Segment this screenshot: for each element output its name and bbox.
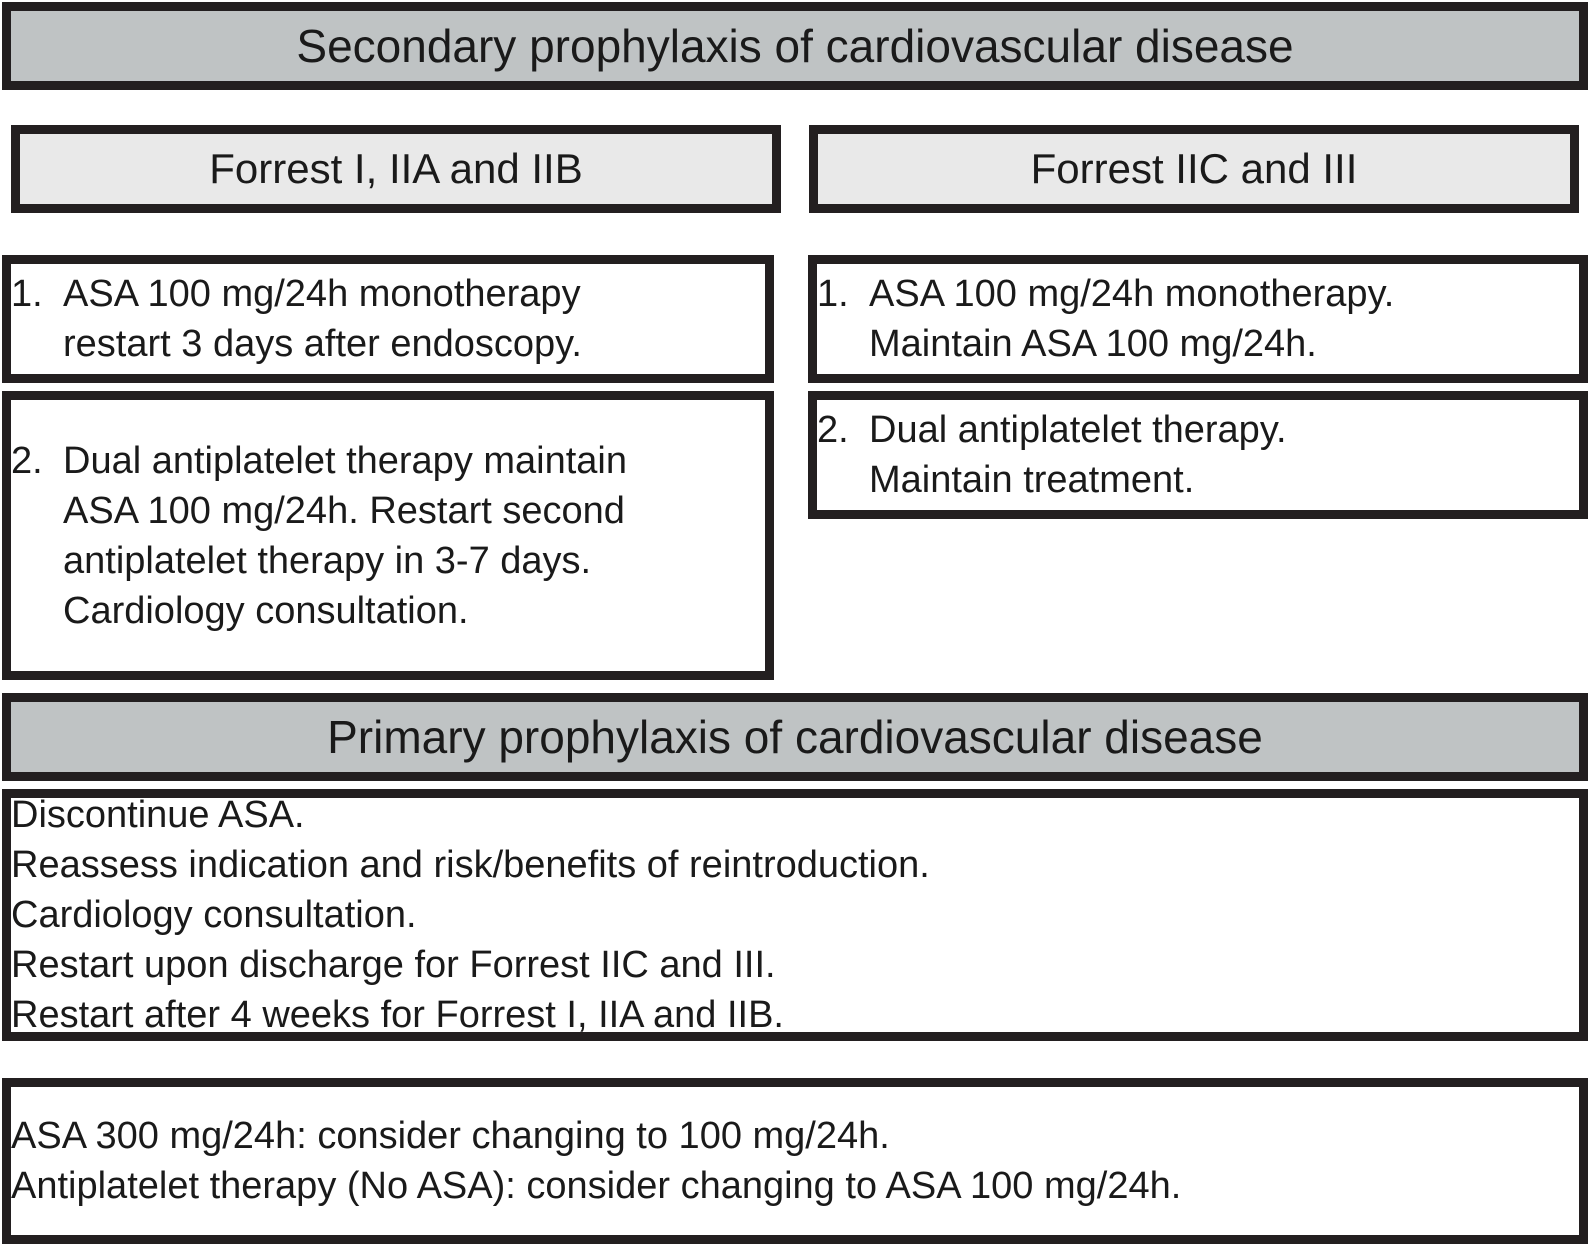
asa-dose-adjustment-line-2: Antiplatelet therapy (No ASA): consider … [11, 1161, 1579, 1211]
right-item-2-number: 2. [817, 405, 869, 455]
right-column-item-2: 2. Dual antiplatelet therapy. Maintain t… [808, 391, 1588, 519]
secondary-prophylaxis-band: Secondary prophylaxis of cardiovascular … [2, 2, 1588, 90]
right-item-1-content: 1. ASA 100 mg/24h monotherapy. Maintain … [817, 269, 1579, 369]
left-item-2-lines: Dual antiplatelet therapy maintain ASA 1… [63, 436, 765, 636]
primary-instruction-3: Cardiology consultation. [11, 890, 1579, 940]
right-column-item-1: 1. ASA 100 mg/24h monotherapy. Maintain … [808, 255, 1588, 383]
left-item-2-line-2: ASA 100 mg/24h. Restart second [63, 486, 765, 536]
column-header-forrest-1-2a-2b: Forrest I, IIA and IIB [11, 125, 781, 213]
left-item-2-line-4: Cardiology consultation. [63, 586, 765, 636]
left-item-1-lines: ASA 100 mg/24h monotherapy restart 3 day… [63, 269, 765, 369]
left-item-2-content: 2. Dual antiplatelet therapy maintain AS… [11, 436, 765, 636]
primary-instructions-list: Discontinue ASA. Reassess indication and… [11, 790, 1579, 1040]
left-item-2-line-3: antiplatelet therapy in 3-7 days. [63, 536, 765, 586]
left-item-2-number: 2. [11, 436, 63, 486]
right-item-1-line-1: ASA 100 mg/24h monotherapy. [869, 269, 1579, 319]
primary-instruction-5: Restart after 4 weeks for Forrest I, IIA… [11, 990, 1579, 1040]
right-item-2-lines: Dual antiplatelet therapy. Maintain trea… [869, 405, 1579, 505]
right-item-1-number: 1. [817, 269, 869, 319]
right-item-2-content: 2. Dual antiplatelet therapy. Maintain t… [817, 405, 1579, 505]
left-column-item-1: 1. ASA 100 mg/24h monotherapy restart 3 … [2, 255, 774, 383]
asa-dose-adjustment-list: ASA 300 mg/24h: consider changing to 100… [11, 1111, 1579, 1211]
primary-instruction-4: Restart upon discharge for Forrest IIC a… [11, 940, 1579, 990]
right-item-1-lines: ASA 100 mg/24h monotherapy. Maintain ASA… [869, 269, 1579, 369]
left-item-1-content: 1. ASA 100 mg/24h monotherapy restart 3 … [11, 269, 765, 369]
primary-prophylaxis-band: Primary prophylaxis of cardiovascular di… [2, 693, 1588, 781]
primary-prophylaxis-title: Primary prophylaxis of cardiovascular di… [11, 713, 1579, 761]
left-item-2-line-1: Dual antiplatelet therapy maintain [63, 436, 765, 486]
asa-dose-adjustment-line-1: ASA 300 mg/24h: consider changing to 100… [11, 1111, 1579, 1161]
left-item-1-line-1: ASA 100 mg/24h monotherapy [63, 269, 765, 319]
figure-root: Secondary prophylaxis of cardiovascular … [0, 0, 1590, 1246]
right-item-1-line-2: Maintain ASA 100 mg/24h. [869, 319, 1579, 369]
left-column-item-2: 2. Dual antiplatelet therapy maintain AS… [2, 391, 774, 680]
right-item-2-line-2: Maintain treatment. [869, 455, 1579, 505]
left-item-1-number: 1. [11, 269, 63, 319]
column-header-forrest-2c-3: Forrest IIC and III [809, 125, 1579, 213]
column-header-right-label: Forrest IIC and III [818, 147, 1570, 191]
primary-instruction-2: Reassess indication and risk/benefits of… [11, 840, 1579, 890]
asa-dose-adjustment-box: ASA 300 mg/24h: consider changing to 100… [2, 1078, 1588, 1244]
column-header-left-label: Forrest I, IIA and IIB [20, 147, 772, 191]
secondary-prophylaxis-title: Secondary prophylaxis of cardiovascular … [11, 22, 1579, 70]
primary-prophylaxis-instructions-box: Discontinue ASA. Reassess indication and… [2, 789, 1588, 1041]
right-item-2-line-1: Dual antiplatelet therapy. [869, 405, 1579, 455]
left-item-1-line-2: restart 3 days after endoscopy. [63, 319, 765, 369]
primary-instruction-1: Discontinue ASA. [11, 790, 1579, 840]
